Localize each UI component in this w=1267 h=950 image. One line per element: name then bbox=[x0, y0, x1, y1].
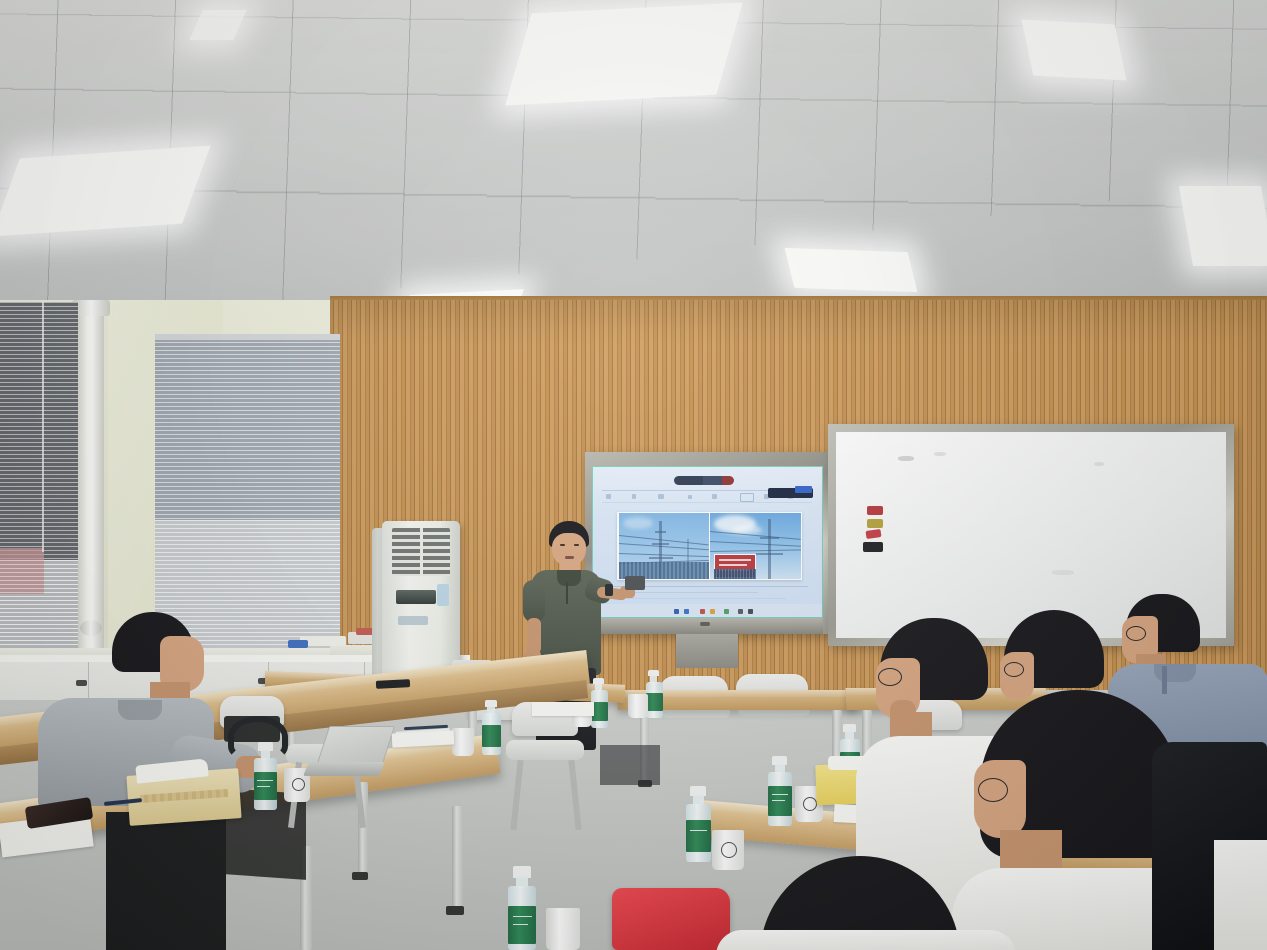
ceiling-light-panel-1 bbox=[505, 3, 743, 106]
paper-cup[interactable] bbox=[628, 694, 648, 718]
display-sensor bbox=[700, 622, 710, 626]
ceiling-light-panel-5 bbox=[1179, 186, 1267, 266]
ceiling-light-panel-4 bbox=[784, 248, 917, 292]
magnet-yellow[interactable] bbox=[867, 519, 883, 528]
presenter-eye-left bbox=[560, 544, 565, 546]
magnet-red-1[interactable] bbox=[867, 506, 883, 515]
air-conditioner-display-panel[interactable] bbox=[396, 590, 436, 604]
paper-cup-logo bbox=[803, 797, 817, 811]
paper-cup[interactable] bbox=[452, 728, 474, 756]
attendee-lanyard bbox=[1162, 666, 1167, 694]
display-bottom-bar bbox=[592, 618, 823, 634]
paper-cup-logo bbox=[292, 778, 305, 791]
blind-cord bbox=[42, 302, 44, 552]
suspended-grid-ceiling bbox=[0, 0, 1267, 345]
laptop-keyboard[interactable] bbox=[303, 762, 385, 776]
eyeglasses bbox=[878, 668, 902, 686]
presenter-remote-control[interactable] bbox=[625, 576, 645, 590]
eyeglasses bbox=[1126, 626, 1146, 641]
presenter-placket bbox=[566, 582, 568, 604]
magnet-black-eraser[interactable] bbox=[863, 542, 883, 552]
cabinet-handle[interactable] bbox=[76, 680, 87, 686]
eyeglasses bbox=[1004, 662, 1024, 677]
table-leg-foot bbox=[352, 872, 368, 880]
eyeglasses bbox=[978, 778, 1008, 802]
red-jacket[interactable] bbox=[612, 888, 730, 950]
presenter-wrist-watch bbox=[605, 584, 613, 596]
notebook-paper bbox=[532, 702, 594, 716]
ceiling-light-panel-2 bbox=[0, 145, 211, 236]
presenter-arm-left bbox=[527, 618, 541, 654]
paper-cup[interactable] bbox=[546, 908, 580, 950]
table-leg bbox=[452, 806, 463, 910]
blind-headrail bbox=[155, 334, 340, 340]
air-conditioner-badge bbox=[437, 584, 449, 606]
conference-room-photo bbox=[0, 0, 1267, 950]
headphones[interactable] bbox=[228, 716, 288, 758]
attendee-white-shirt bbox=[716, 930, 1016, 950]
ceiling-light-panel-6 bbox=[1022, 20, 1127, 81]
magnet-red-2[interactable] bbox=[866, 529, 882, 539]
paper-cup-logo bbox=[721, 842, 737, 858]
presenter-mouth bbox=[565, 556, 574, 559]
attendee-collar bbox=[1154, 664, 1196, 682]
air-conditioner-logo bbox=[398, 616, 428, 625]
attendee-white-sleeve bbox=[1214, 840, 1267, 950]
presenter-collar bbox=[557, 570, 581, 586]
structural-column bbox=[78, 300, 104, 700]
table-leg-foot bbox=[446, 906, 464, 915]
presenter-eye-right bbox=[574, 544, 579, 546]
presenter-sleeve-left bbox=[523, 580, 545, 622]
attendee-legs bbox=[106, 812, 226, 950]
venetian-blind-left-dark[interactable] bbox=[0, 302, 78, 560]
under-table-shadow bbox=[600, 745, 660, 785]
column-joint bbox=[80, 620, 102, 636]
sill-blue-item bbox=[288, 640, 308, 648]
display-wall-mount bbox=[676, 634, 738, 668]
chair-seat bbox=[506, 740, 584, 760]
air-conditioner-vent-divider bbox=[420, 528, 423, 576]
attendee-collar bbox=[118, 700, 162, 720]
